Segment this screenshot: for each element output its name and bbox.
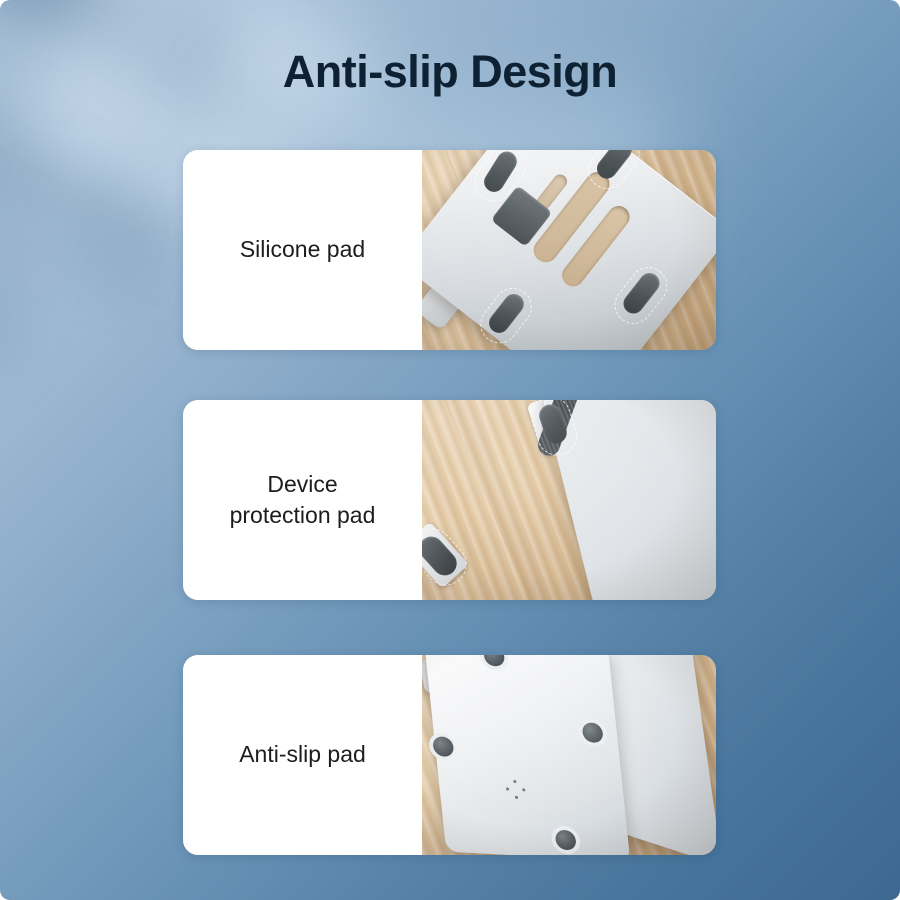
anti-slip-pad: [555, 830, 577, 851]
feature-card-photo: [422, 400, 716, 600]
feature-card-label: Silicone pad: [183, 150, 422, 350]
anti-slip-pad: [581, 722, 603, 743]
feature-card-photo: [422, 655, 716, 855]
anti-slip-pad: [432, 736, 454, 757]
page-title: Anti-slip Design: [0, 47, 900, 97]
feature-card-label: Device protection pad: [183, 400, 422, 600]
feature-card-label: Anti-slip pad: [183, 655, 422, 855]
anti-slip-pad: [483, 655, 505, 667]
feature-card-photo: [422, 150, 716, 350]
feature-card-silicone-pad: Silicone pad: [183, 150, 716, 350]
feature-card-anti-slip-pad: Anti-slip pad: [183, 655, 716, 855]
product-feature-page: Anti-slip Design Silicone pad: [0, 0, 900, 900]
brand-dot-marks: [505, 780, 530, 803]
feature-card-device-protection-pad: Device protection pad: [183, 400, 716, 600]
background-shadow-streak: [0, 80, 204, 268]
stand-base-plate: [424, 655, 631, 855]
